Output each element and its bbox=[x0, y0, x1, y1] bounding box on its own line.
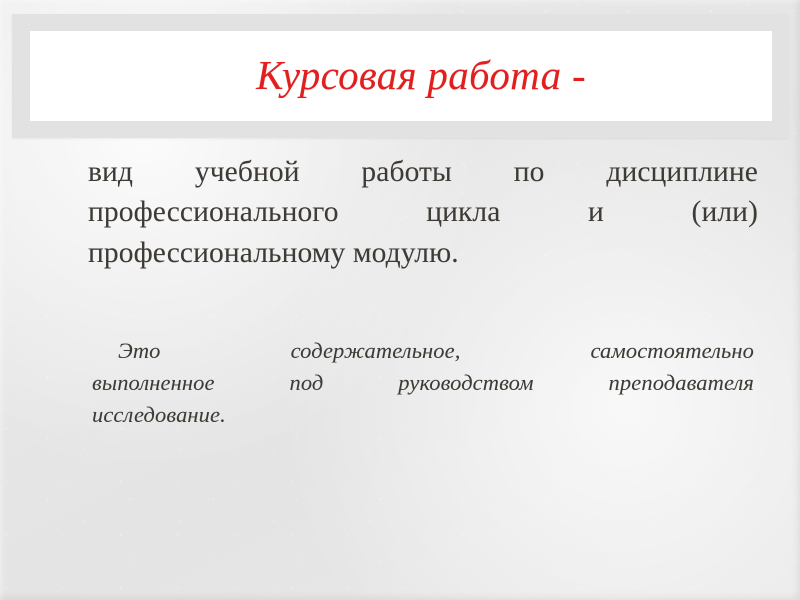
title-plate: Курсовая работа - bbox=[12, 14, 788, 138]
paragraph-definition-line-3: профессиональному модулю. bbox=[88, 233, 758, 273]
paragraph-note: Это содержательное, самостоятельно выпол… bbox=[92, 335, 754, 431]
paragraph-definition: вид учебной работы по дисциплине професс… bbox=[88, 152, 758, 273]
paragraph-note-line-2: выполненное под руководством преподавате… bbox=[92, 367, 754, 399]
paragraph-definition-line-1: вид учебной работы по дисциплине bbox=[88, 152, 758, 192]
title-plate-inner: Курсовая работа - bbox=[30, 31, 772, 121]
paragraph-definition-line-2: профессионального цикла и (или) bbox=[88, 192, 758, 232]
presentation-slide: Курсовая работа - вид учебной работы по … bbox=[0, 0, 800, 600]
paragraph-note-line-3: исследование. bbox=[92, 399, 754, 431]
slide-body: вид учебной работы по дисциплине професс… bbox=[88, 152, 760, 431]
paragraph-note-line-1: Это содержательное, самостоятельно bbox=[92, 335, 754, 367]
page-title: Курсовая работа - bbox=[256, 54, 586, 97]
